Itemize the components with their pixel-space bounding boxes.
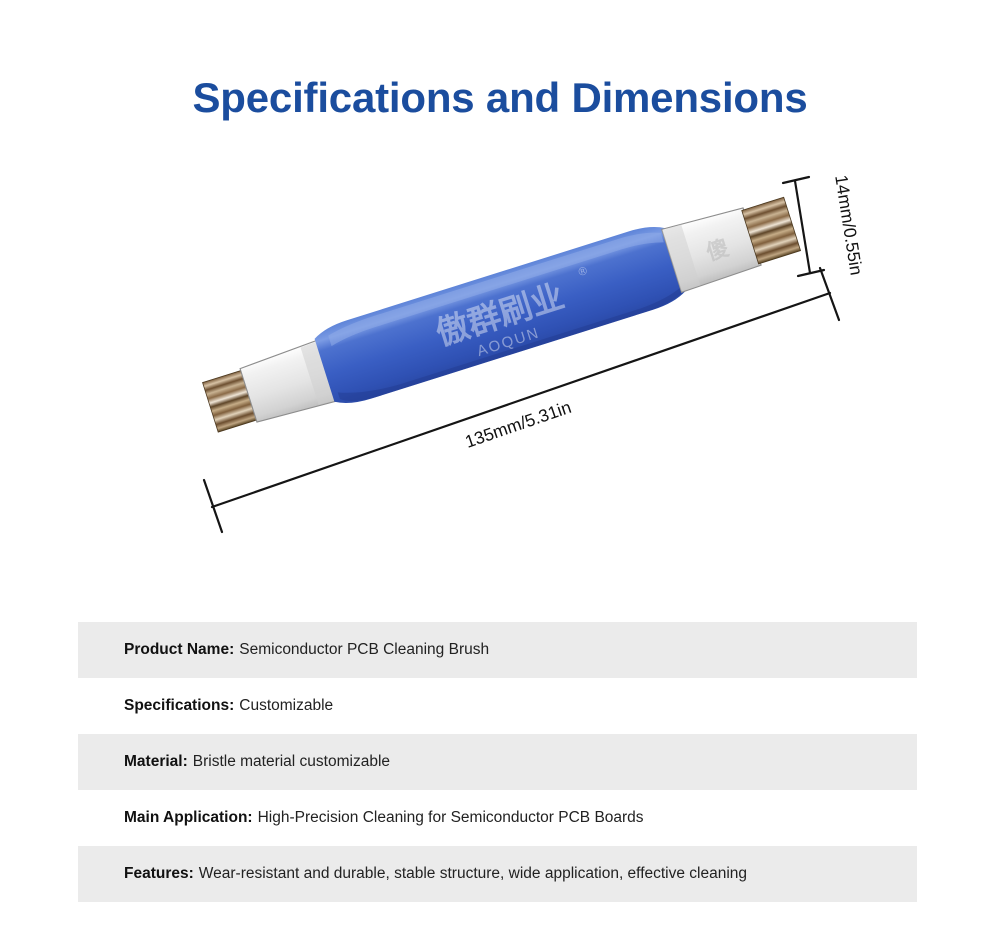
specification-table: Product Name: Semiconductor PCB Cleaning… (78, 622, 917, 902)
dimension-length-label: 135mm/5.31in (462, 397, 573, 452)
spec-value: Semiconductor PCB Cleaning Brush (239, 641, 489, 659)
spec-label: Specifications: (124, 697, 234, 715)
spec-value: Customizable (239, 697, 333, 715)
spec-label: Main Application: (124, 809, 253, 827)
page-title: Specifications and Dimensions (0, 74, 1000, 122)
table-row: Product Name: Semiconductor PCB Cleaning… (78, 622, 917, 678)
brush-diagram: 傲群刷业 ® AOQUN 傻 135mm/5.31in 14mm/0.55in (0, 140, 1000, 570)
spec-value: High-Precision Cleaning for Semiconducto… (258, 809, 644, 827)
table-row: Main Application: High-Precision Cleanin… (78, 790, 917, 846)
table-row: Specifications: Customizable (78, 678, 917, 734)
spec-label: Product Name: (124, 641, 234, 659)
product-illustration: 傲群刷业 ® AOQUN 傻 135mm/5.31in 14mm/0.55in (0, 140, 1000, 570)
table-row: Features: Wear-resistant and durable, st… (78, 846, 917, 902)
spec-label: Features: (124, 865, 194, 883)
spec-label: Material: (124, 753, 188, 771)
spec-value: Bristle material customizable (193, 753, 390, 771)
dimension-head-width-label: 14mm/0.55in (831, 174, 867, 277)
spec-value: Wear-resistant and durable, stable struc… (199, 865, 747, 883)
table-row: Material: Bristle material customizable (78, 734, 917, 790)
